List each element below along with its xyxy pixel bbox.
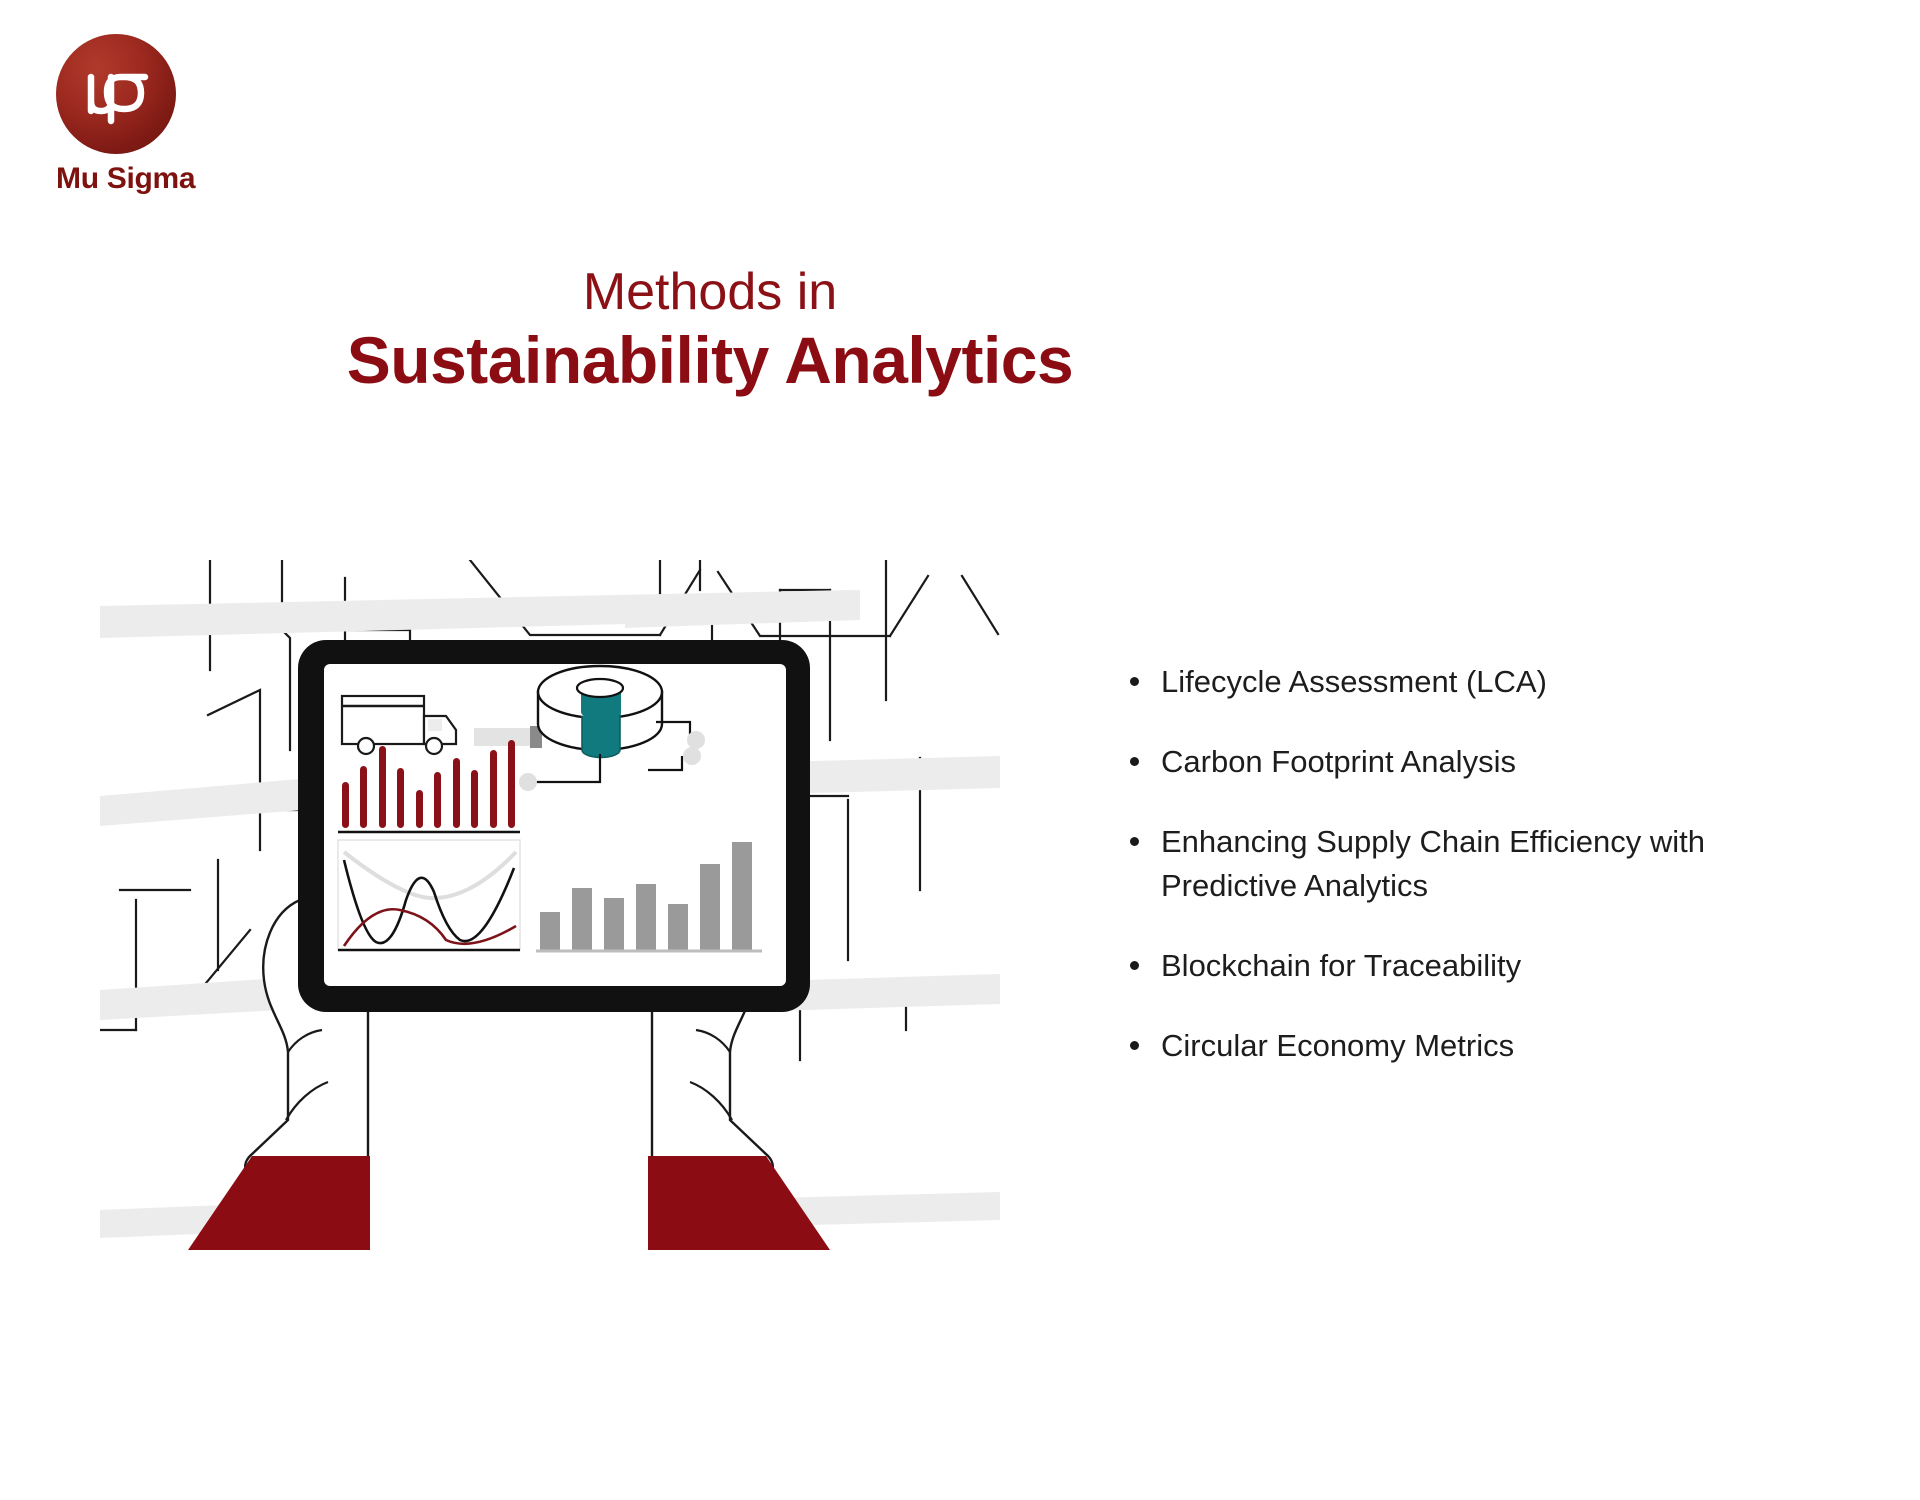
list-item-label: Lifecycle Assessment (LCA) <box>1161 660 1547 704</box>
mu-sigma-circle-logo-icon <box>56 34 176 154</box>
page-title: Methods in Sustainability Analytics <box>0 265 1420 395</box>
bullet-point-icon <box>1130 1041 1139 1050</box>
list-item[interactable]: Carbon Footprint Analysis <box>1130 740 1830 784</box>
list-item[interactable]: Blockchain for Traceability <box>1130 944 1830 988</box>
list-item[interactable]: Enhancing Supply Chain Efficiency with P… <box>1130 820 1830 908</box>
brand-name: Mu Sigma <box>56 164 286 194</box>
bullet-point-icon <box>1130 961 1139 970</box>
left-sleeve <box>188 1156 370 1250</box>
list-item-label: Enhancing Supply Chain Efficiency with P… <box>1161 820 1801 908</box>
list-item[interactable]: Lifecycle Assessment (LCA) <box>1130 660 1830 704</box>
title-line-2: Sustainability Analytics <box>0 326 1420 395</box>
slide-canvas: Mu Sigma Methods in Sustainability Analy… <box>0 0 1920 1500</box>
list-item-label: Circular Economy Metrics <box>1161 1024 1514 1068</box>
title-line-1: Methods in <box>0 265 1420 320</box>
3d-donut-chart-icon <box>538 666 662 757</box>
list-item-label: Blockchain for Traceability <box>1161 944 1521 988</box>
methods-bullet-list: Lifecycle Assessment (LCA) Carbon Footpr… <box>1130 660 1830 1104</box>
list-item-label: Carbon Footprint Analysis <box>1161 740 1516 784</box>
bullet-point-icon <box>1130 837 1139 846</box>
bullet-point-icon <box>1130 677 1139 686</box>
illustration-hands-tablet <box>100 560 1100 1250</box>
bullet-point-icon <box>1130 757 1139 766</box>
logo-glyph-icon <box>56 34 176 154</box>
list-item[interactable]: Circular Economy Metrics <box>1130 1024 1830 1068</box>
brand-logo: Mu Sigma <box>56 34 286 194</box>
